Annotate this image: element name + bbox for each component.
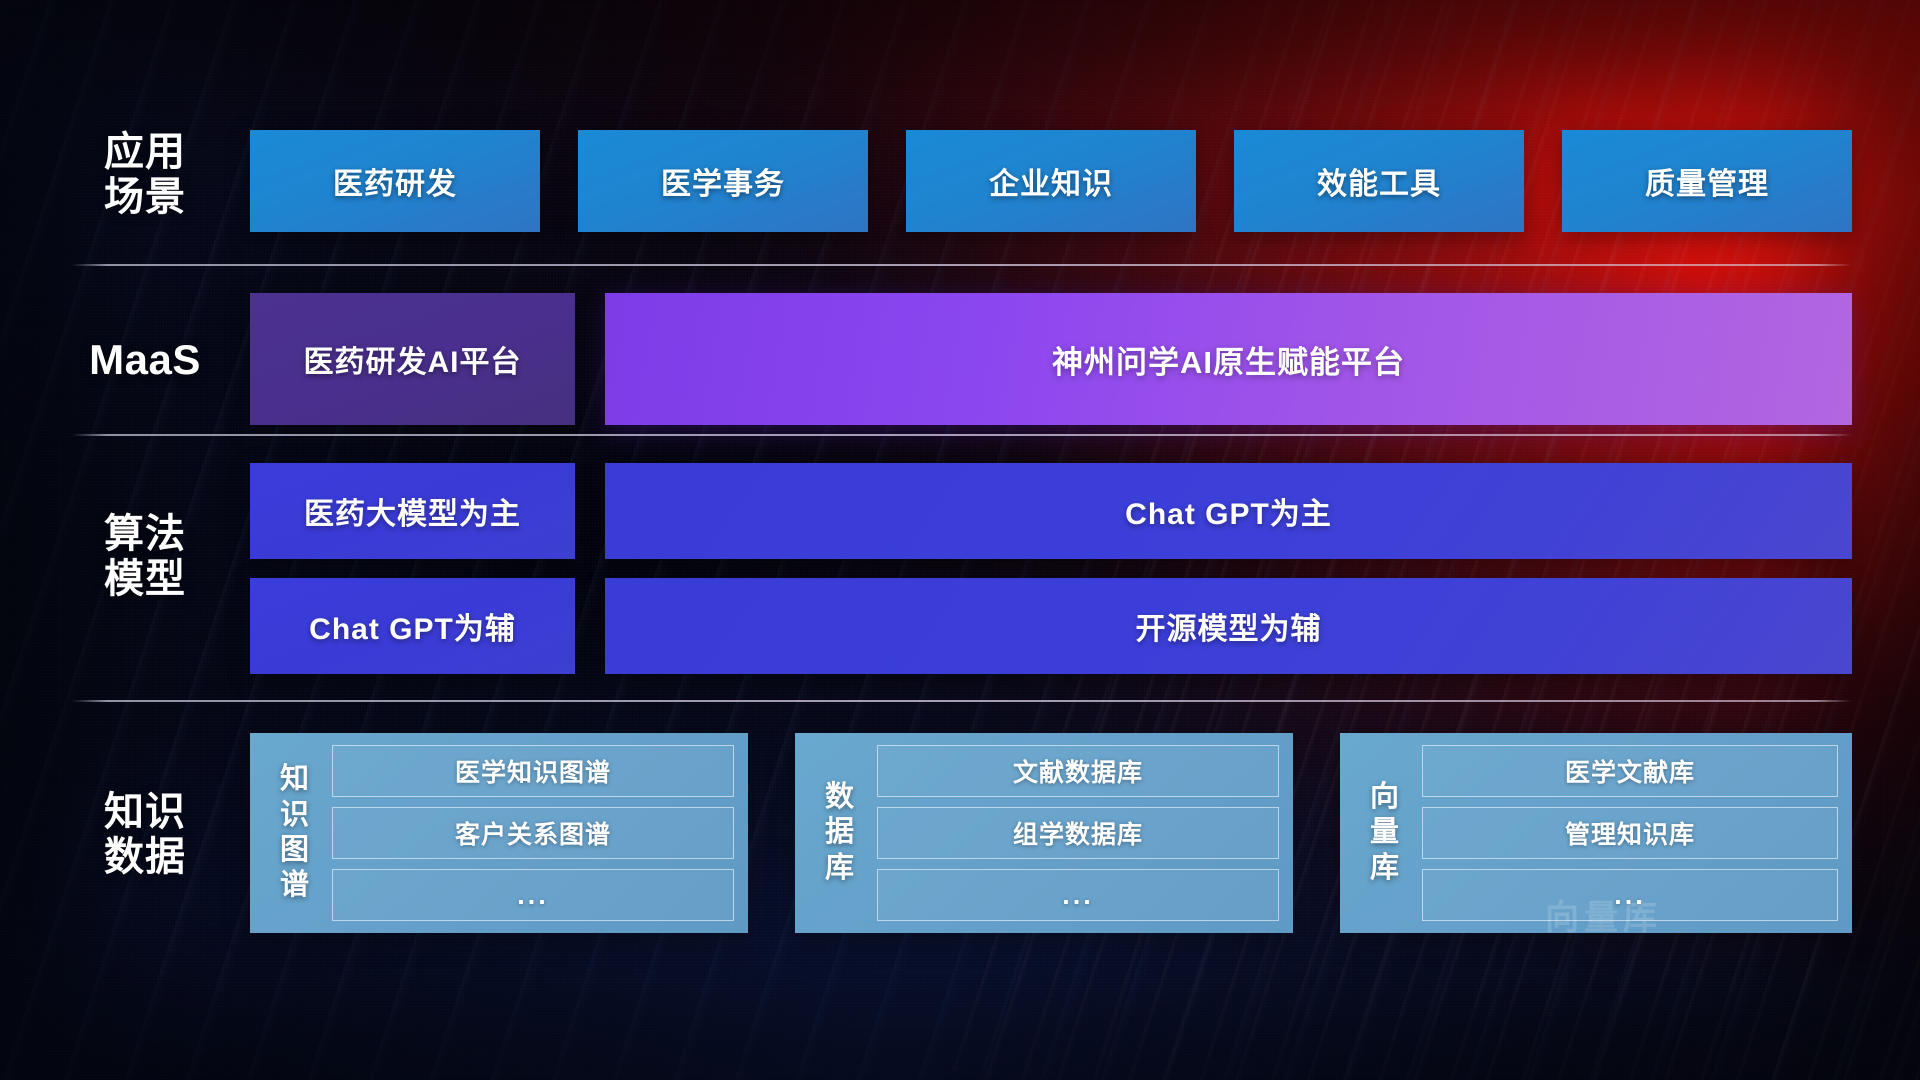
knowledge-group-label-3: 向 量 库 <box>1348 780 1422 886</box>
application-box-4[interactable]: 效能工具 <box>1234 130 1524 232</box>
divider-algorithm-knowledge <box>72 700 1852 702</box>
architecture-diagram: 应用 场景 医药研发 医学事务 企业知识 效能工具 质量管理 MaaS 医药研发… <box>0 0 1920 1080</box>
maas-box-shenzhou-wenxue-platform[interactable]: 神州问学AI原生赋能平台 <box>605 293 1852 425</box>
application-box-3[interactable]: 企业知识 <box>906 130 1196 232</box>
knowledge-group-items-3: 医学文献库 管理知识库 ... <box>1422 745 1838 921</box>
divider-maas-algorithm <box>72 434 1852 436</box>
knowledge-group-label-1: 知 识 图 谱 <box>258 762 332 904</box>
knowledge-item-3-1[interactable]: 医学文献库 <box>1422 745 1838 797</box>
knowledge-item-1-2[interactable]: 客户关系图谱 <box>332 807 734 859</box>
knowledge-item-1-3[interactable]: ... <box>332 869 734 921</box>
algorithm-box-secondary-left[interactable]: Chat GPT为辅 <box>250 578 575 674</box>
knowledge-item-3-2[interactable]: 管理知识库 <box>1422 807 1838 859</box>
row-label-knowledge: 知识 数据 <box>60 790 230 880</box>
row-label-application: 应用 场景 <box>60 130 230 220</box>
row-label-maas: MaaS <box>60 336 230 383</box>
knowledge-item-1-1[interactable]: 医学知识图谱 <box>332 745 734 797</box>
slide-canvas: 应用 场景 医药研发 医学事务 企业知识 效能工具 质量管理 MaaS 医药研发… <box>0 0 1920 1080</box>
knowledge-item-2-2[interactable]: 组学数据库 <box>877 807 1279 859</box>
maas-box-pharma-ai-platform[interactable]: 医药研发AI平台 <box>250 293 575 425</box>
knowledge-group-label-2: 数 据 库 <box>803 780 877 886</box>
algorithm-box-secondary-right[interactable]: 开源模型为辅 <box>605 578 1852 674</box>
algorithm-box-primary-left[interactable]: 医药大模型为主 <box>250 463 575 559</box>
application-box-5[interactable]: 质量管理 <box>1562 130 1852 232</box>
knowledge-group-vector-store[interactable]: 向 量 库 医学文献库 管理知识库 ... <box>1340 733 1852 933</box>
knowledge-group-items-2: 文献数据库 组学数据库 ... <box>877 745 1279 921</box>
knowledge-item-3-3[interactable]: ... <box>1422 869 1838 921</box>
row-label-algorithm: 算法 模型 <box>60 512 230 602</box>
algorithm-box-primary-right[interactable]: Chat GPT为主 <box>605 463 1852 559</box>
knowledge-group-database[interactable]: 数 据 库 文献数据库 组学数据库 ... <box>795 733 1293 933</box>
divider-application-maas <box>72 264 1852 266</box>
knowledge-group-items-1: 医学知识图谱 客户关系图谱 ... <box>332 745 734 921</box>
application-box-1[interactable]: 医药研发 <box>250 130 540 232</box>
knowledge-item-2-1[interactable]: 文献数据库 <box>877 745 1279 797</box>
knowledge-item-2-3[interactable]: ... <box>877 869 1279 921</box>
application-box-2[interactable]: 医学事务 <box>578 130 868 232</box>
knowledge-group-knowledge-graph[interactable]: 知 识 图 谱 医学知识图谱 客户关系图谱 ... <box>250 733 748 933</box>
